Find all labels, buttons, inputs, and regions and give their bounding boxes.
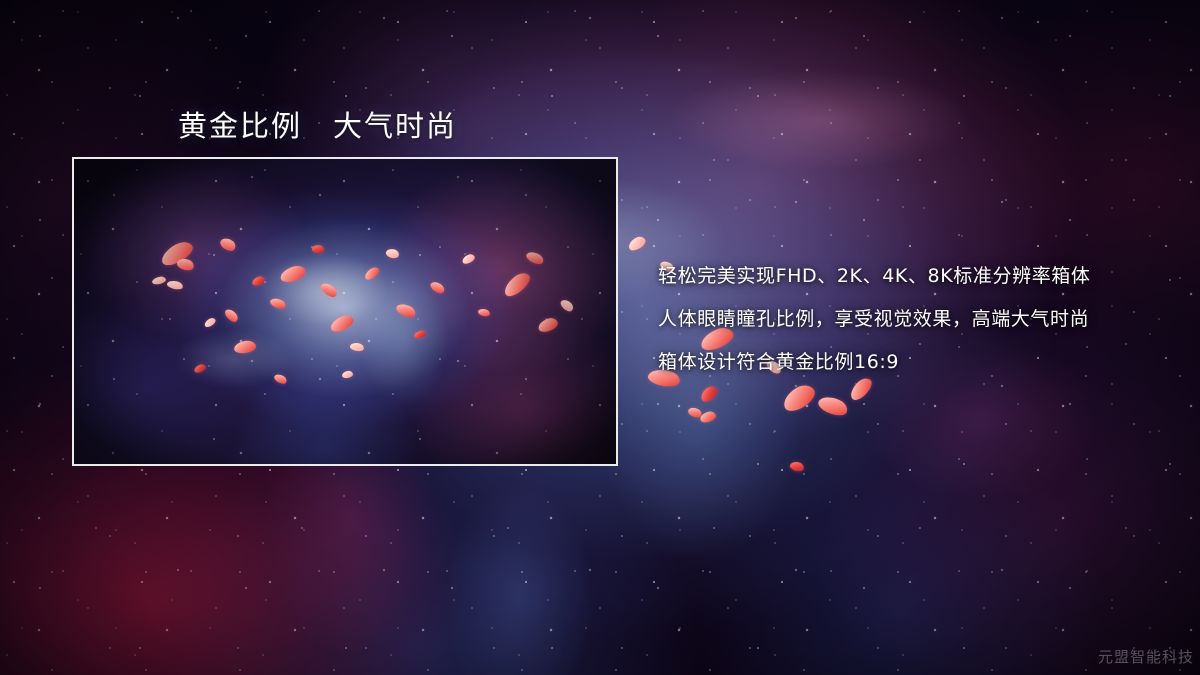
body-line: 轻松完美实现FHD、2K、4K、8K标准分辨率箱体 bbox=[658, 255, 1158, 298]
body-line: 人体眼睛瞳孔比例，享受视觉效果，高端大气时尚 bbox=[658, 298, 1158, 341]
body-line: 箱体设计符合黄金比例16:9 bbox=[658, 341, 1158, 384]
photo-vignette bbox=[74, 159, 616, 464]
watermark: 元盟智能科技 bbox=[1098, 646, 1194, 667]
photo-image bbox=[74, 159, 616, 464]
presentation-slide: 黄金比例 大气时尚 轻松完美实现FHD、2K、4K、8K标准分辨率箱体 人体眼睛… bbox=[0, 0, 1200, 675]
page-title: 黄金比例 大气时尚 bbox=[178, 103, 457, 145]
body-text-block: 轻松完美实现FHD、2K、4K、8K标准分辨率箱体 人体眼睛瞳孔比例，享受视觉效… bbox=[658, 255, 1158, 384]
framed-photo bbox=[72, 157, 618, 466]
